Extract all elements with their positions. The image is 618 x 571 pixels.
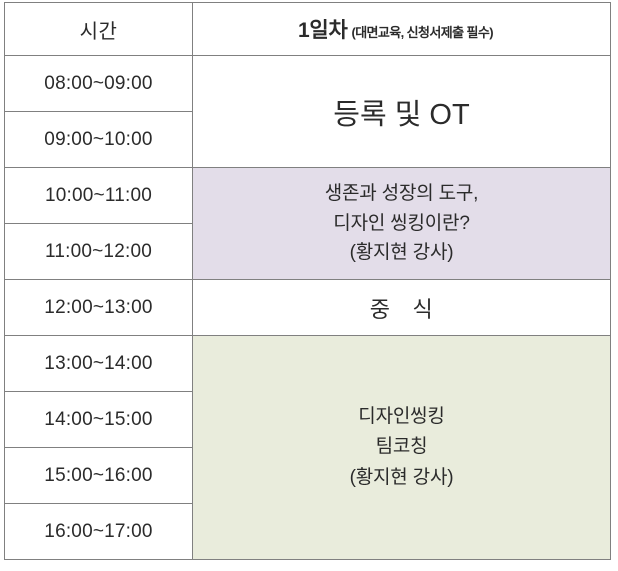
time-slot-1300-1400: 13:00~14:00 — [5, 336, 193, 392]
time-slot-1600-1700: 16:00~17:00 — [5, 504, 193, 560]
session-design-thinking-lecture: 생존과 성장의 도구, 디자인 씽킹이란? (황지현 강사) — [193, 168, 611, 280]
session-lunch: 중식 — [193, 280, 611, 336]
table-row: 12:00~13:00 중식 — [5, 280, 611, 336]
session-lecture-line-1: 생존과 성장의 도구, — [193, 179, 610, 208]
column-header-day1: 1일차(대면교육, 신청서제출 필수) — [193, 3, 611, 56]
lunch-label-part-2: 식 — [413, 297, 434, 322]
session-orientation: 등록 및 OT — [193, 56, 611, 168]
time-slot-1400-1500: 14:00~15:00 — [5, 392, 193, 448]
session-coaching-instructor: (황지현 강사) — [193, 463, 610, 493]
session-coaching-line-1: 디자인씽킹 — [193, 402, 610, 432]
day1-note: (대면교육, 신청서제출 필수) — [351, 25, 492, 40]
day1-label: 1일차 — [298, 19, 347, 42]
table-header-row: 시간 1일차(대면교육, 신청서제출 필수) — [5, 3, 611, 56]
time-slot-0800-0900: 08:00~09:00 — [5, 56, 193, 112]
time-slot-1100-1200: 11:00~12:00 — [5, 224, 193, 280]
table-row: 10:00~11:00 생존과 성장의 도구, 디자인 씽킹이란? (황지현 강… — [5, 168, 611, 224]
schedule-table-container: 시간 1일차(대면교육, 신청서제출 필수) 08:00~09:00 등록 및 … — [4, 2, 611, 571]
table-row: 08:00~09:00 등록 및 OT — [5, 56, 611, 112]
time-slot-1500-1600: 15:00~16:00 — [5, 448, 193, 504]
time-slot-1200-1300: 12:00~13:00 — [5, 280, 193, 336]
schedule-table: 시간 1일차(대면교육, 신청서제출 필수) 08:00~09:00 등록 및 … — [4, 2, 611, 560]
time-slot-1000-1100: 10:00~11:00 — [5, 168, 193, 224]
session-lecture-instructor: (황지현 강사) — [193, 238, 610, 267]
column-header-time: 시간 — [5, 3, 193, 56]
table-row: 13:00~14:00 디자인씽킹 팀코칭 (황지현 강사) — [5, 336, 611, 392]
session-lecture-line-2: 디자인 씽킹이란? — [193, 209, 610, 238]
session-coaching-line-2: 팀코칭 — [193, 432, 610, 462]
lunch-label-part-1: 중 — [370, 297, 391, 322]
session-design-thinking-team-coaching: 디자인씽킹 팀코칭 (황지현 강사) — [193, 336, 611, 560]
time-slot-0900-1000: 09:00~10:00 — [5, 112, 193, 168]
